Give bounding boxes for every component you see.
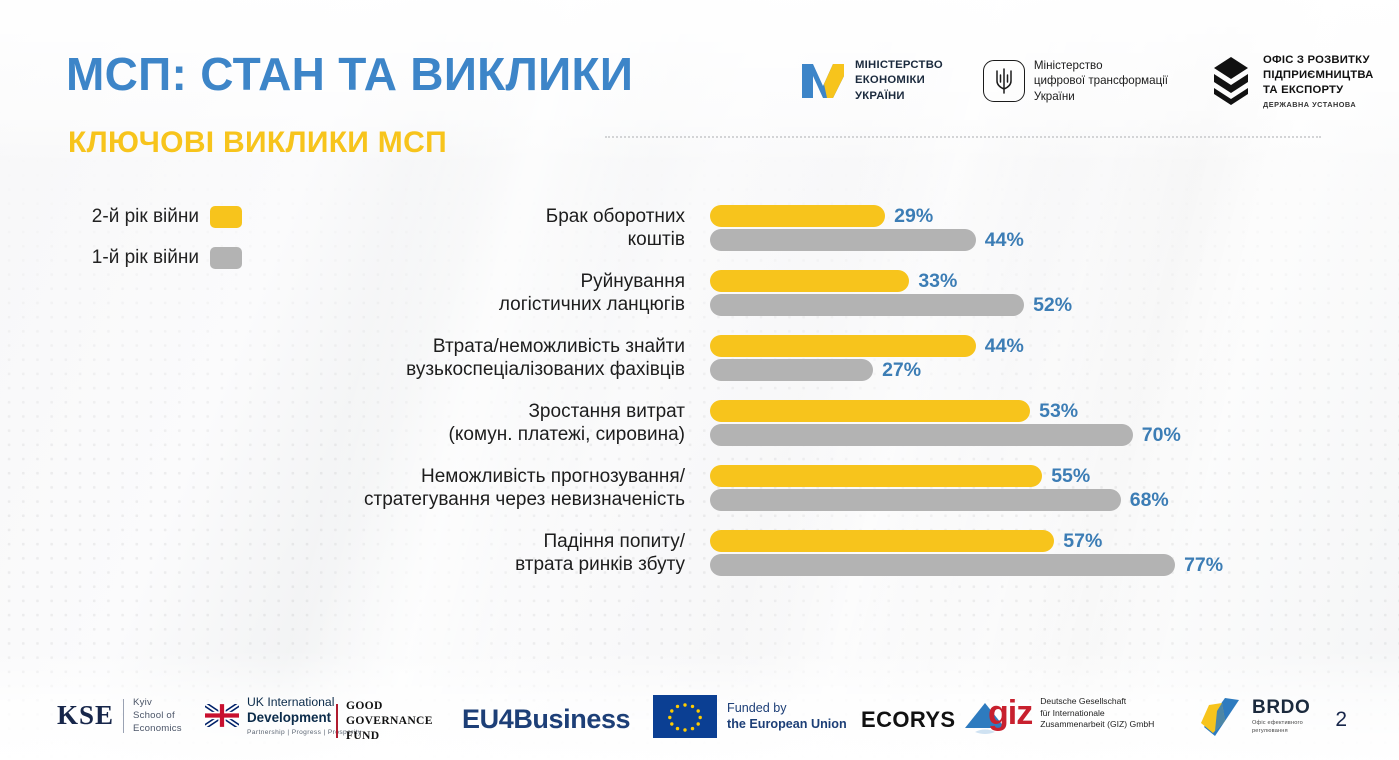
bar-line-year-2: 55%: [710, 464, 1169, 488]
kse-line-3: Economics: [133, 722, 182, 735]
bar-year-2[interactable]: [710, 270, 909, 292]
category-label-line-2: втрата ринків збуту: [515, 553, 685, 576]
ggf-line-2: GOVERNANCE: [346, 713, 433, 728]
category-label: Падіння попиту/ втрата ринків збуту: [515, 530, 685, 576]
bar-value-year-1: 70%: [1142, 424, 1181, 447]
bar-value-year-2: 44%: [985, 335, 1024, 358]
bar-group: 33% 52%: [710, 269, 1072, 317]
brdo-sub-line-2: регулювання: [1252, 728, 1310, 736]
bar-year-2[interactable]: [710, 335, 976, 357]
page-number: 2: [1335, 708, 1347, 732]
footer-logo-bar: KSE Kyiv School of Economics UK Internat…: [0, 690, 1399, 746]
bar-value-year-1: 68%: [1130, 489, 1169, 512]
logo-kse: KSE Kyiv School of Economics: [57, 696, 182, 736]
giz-line-3: Zusammenarbeit (GIZ) GmbH: [1040, 719, 1154, 731]
bar-year-2[interactable]: [710, 400, 1030, 422]
bar-group: 44% 27%: [710, 334, 1024, 382]
logo-line-1: Міністерство: [1034, 58, 1168, 74]
logo-line-3: ТА ЕКСПОРТУ: [1263, 83, 1374, 98]
bar-line-year-1: 70%: [710, 423, 1181, 447]
logo-line-2: ЕКОНОМІКИ: [855, 73, 943, 88]
logo-line-3: УКРАЇНИ: [855, 89, 943, 104]
giz-line-1: Deutsche Gesellschaft: [1040, 696, 1154, 708]
brdo-footer-sub: Офіс ефективного регулювання: [1252, 720, 1310, 735]
trident-glyph: [995, 68, 1013, 94]
brdo-sublabel: ДЕРЖАВНА УСТАНОВА: [1263, 100, 1374, 109]
bar-value-year-1: 27%: [882, 359, 921, 382]
category-label-line-1: Зростання витрат: [449, 400, 685, 423]
eu-funded-label: Funded by the European Union: [727, 701, 847, 733]
chart-row: Зростання витрат (комун. платежі, сирови…: [0, 391, 1399, 456]
page-title: МСП: СТАН ТА ВИКЛИКИ: [66, 47, 633, 101]
bar-year-1[interactable]: [710, 554, 1175, 576]
ggf-accent-bar: [336, 704, 338, 738]
logo-brdo-footer: BRDO Офіс ефективного регулювання: [1195, 697, 1310, 737]
chart-row: Втрата/неможливість знайти вузькоспеціал…: [0, 326, 1399, 391]
bar-value-year-2: 33%: [918, 270, 957, 293]
kse-line-1: Kyiv: [133, 696, 182, 709]
kse-mark: KSE: [57, 700, 114, 731]
bar-group: 29% 44%: [710, 204, 1024, 252]
category-label: Руйнування логістичних ланцюгів: [499, 270, 685, 316]
bar-line-year-1: 27%: [710, 358, 1024, 382]
category-label-line-2: логістичних ланцюгів: [499, 293, 685, 316]
category-label: Неможливість прогнозування/ стратегуванн…: [364, 465, 685, 511]
category-label: Зростання витрат (комун. платежі, сирови…: [449, 400, 685, 446]
header-divider: [605, 136, 1321, 138]
kse-label: Kyiv School of Economics: [133, 696, 182, 736]
logo-ecorys: ECORYS: [861, 702, 1007, 738]
bar-value-year-2: 57%: [1063, 530, 1102, 553]
ukraine-trident-icon: [983, 60, 1025, 102]
chart-row: Падіння попиту/ втрата ринків збуту 57% …: [0, 521, 1399, 586]
bar-value-year-2: 55%: [1051, 465, 1090, 488]
kse-line-2: School of: [133, 709, 182, 722]
category-label-line-1: Падіння попиту/: [515, 530, 685, 553]
bar-value-year-1: 52%: [1033, 294, 1072, 317]
bar-year-2[interactable]: [710, 530, 1054, 552]
bar-line-year-1: 68%: [710, 488, 1169, 512]
chart-row: Руйнування логістичних ланцюгів 33% 52%: [0, 261, 1399, 326]
logo-line-3: України: [1034, 89, 1168, 105]
eu4business-label: EU4Business: [462, 704, 630, 735]
eu-stars-glyph: [653, 695, 717, 738]
brdo-lightning-icon: [1195, 697, 1243, 737]
ministry-of-economy-icon: [800, 60, 846, 102]
ukaid-line-2: Development: [247, 710, 331, 725]
bar-value-year-2: 29%: [894, 205, 933, 228]
category-label-line-2: коштів: [546, 228, 685, 251]
page-subtitle: КЛЮЧОВІ ВИКЛИКИ МСП: [68, 126, 447, 160]
giz-label: Deutsche Gesellschaft für Internationale…: [1040, 696, 1154, 731]
bar-year-1[interactable]: [710, 359, 873, 381]
bar-year-1[interactable]: [710, 424, 1133, 446]
header-logo-row: МІНІСТЕРСТВО ЕКОНОМІКИ УКРАЇНИ Міністерс…: [800, 50, 1374, 112]
bar-line-year-2: 33%: [710, 269, 1072, 293]
logo-giz: giz Deutsche Gesellschaft für Internatio…: [988, 696, 1154, 731]
bar-line-year-1: 44%: [710, 228, 1024, 252]
logo-ministry-of-digital-transformation: Міністерство цифрової трансформації Укра…: [983, 58, 1168, 105]
logo-ministry-of-economy: МІНІСТЕРСТВО ЕКОНОМІКИ УКРАЇНИ: [800, 58, 943, 103]
brdo-footer-label: BRDO Офіс ефективного регулювання: [1252, 698, 1310, 735]
logo-line-1: МІНІСТЕРСТВО: [855, 58, 943, 73]
bar-value-year-2: 53%: [1039, 400, 1078, 423]
bar-line-year-2: 57%: [710, 529, 1223, 553]
logo-line-2: цифрової трансформації: [1034, 73, 1168, 89]
giz-mark: giz: [988, 697, 1032, 729]
bar-year-1[interactable]: [710, 229, 976, 251]
chart-row: Брак оборотних коштів 29% 44%: [0, 196, 1399, 261]
logo-good-governance-fund: GOOD GOVERNANCE FUND: [336, 698, 433, 743]
brdo-chevron-icon: [1208, 56, 1254, 106]
logo-funded-by-european-union: Funded by the European Union: [653, 695, 847, 738]
bar-group: 57% 77%: [710, 529, 1223, 577]
brdo-lines: ОФІС З РОЗВИТКУ ПІДПРИЄМНИЦТВА ТА ЕКСПОР…: [1263, 53, 1374, 97]
category-label-line-2: (комун. платежі, сировина): [449, 423, 685, 446]
category-label-line-1: Руйнування: [499, 270, 685, 293]
bar-line-year-1: 77%: [710, 553, 1223, 577]
bar-group: 53% 70%: [710, 399, 1181, 447]
bar-year-2[interactable]: [710, 465, 1042, 487]
chart-row: Неможливість прогнозування/ стратегуванн…: [0, 456, 1399, 521]
kse-divider: [123, 699, 124, 733]
ministry-of-economy-label: МІНІСТЕРСТВО ЕКОНОМІКИ УКРАЇНИ: [855, 58, 943, 103]
bar-value-year-1: 44%: [985, 229, 1024, 252]
category-label: Втрата/неможливість знайти вузькоспеціал…: [406, 335, 685, 381]
brdo-footer-title: BRDO: [1252, 698, 1310, 717]
ministry-of-digital-transformation-label: Міністерство цифрової трансформації Укра…: [1034, 58, 1168, 105]
bar-year-2[interactable]: [710, 205, 885, 227]
bar-value-year-1: 77%: [1184, 554, 1223, 577]
ggf-line-3: FUND: [346, 728, 433, 743]
bar-year-1[interactable]: [710, 294, 1024, 316]
bar-line-year-1: 52%: [710, 293, 1072, 317]
category-label: Брак оборотних коштів: [546, 205, 685, 251]
category-label-line-2: вузькоспеціалізованих фахівців: [406, 358, 685, 381]
logo-line-2: ПІДПРИЄМНИЦТВА: [1263, 68, 1374, 83]
category-label-line-2: стратегування через невизначеність: [364, 488, 685, 511]
logo-brdo-office: ОФІС З РОЗВИТКУ ПІДПРИЄМНИЦТВА ТА ЕКСПОР…: [1208, 53, 1374, 108]
european-union-flag-icon: [653, 695, 717, 738]
ggf-label: GOOD GOVERNANCE FUND: [346, 698, 433, 743]
bar-group: 55% 68%: [710, 464, 1169, 512]
category-label-line-1: Втрата/неможливість знайти: [406, 335, 685, 358]
bar-line-year-2: 29%: [710, 204, 1024, 228]
logo-eu4business: EU4Business: [462, 704, 630, 735]
bar-chart: Брак оборотних коштів 29% 44% Руйнування…: [0, 196, 1399, 586]
brdo-sub-line-1: Офіс ефективного: [1252, 720, 1310, 728]
brdo-office-label: ОФІС З РОЗВИТКУ ПІДПРИЄМНИЦТВА ТА ЕКСПОР…: [1263, 53, 1374, 108]
eu-line-2: the European Union: [727, 717, 847, 731]
bar-line-year-2: 53%: [710, 399, 1181, 423]
bar-line-year-2: 44%: [710, 334, 1024, 358]
ggf-line-1: GOOD: [346, 698, 433, 713]
category-label-line-1: Брак оборотних: [546, 205, 685, 228]
eu-line-1: Funded by: [727, 701, 847, 717]
logo-line-1: ОФІС З РОЗВИТКУ: [1263, 53, 1374, 68]
category-label-line-1: Неможливість прогнозування/: [364, 465, 685, 488]
ecorys-label: ECORYS: [861, 707, 956, 733]
bar-year-1[interactable]: [710, 489, 1121, 511]
giz-line-2: für Internationale: [1040, 708, 1154, 720]
union-jack-flag-icon: [205, 704, 239, 727]
